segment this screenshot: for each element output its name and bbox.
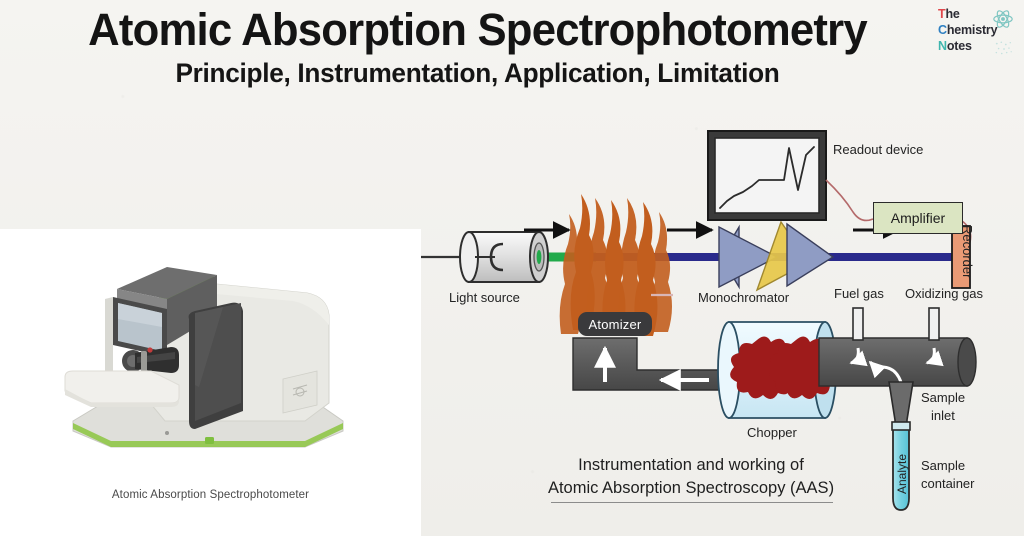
atom-icon [992, 8, 1014, 30]
page-title: Atomic Absorption Spectrophotometry [14, 4, 940, 56]
aas-schematic-diagram: Light source Atomizer Monochromator Read… [421, 90, 1024, 536]
instrument-photo-caption: Atomic Absorption Spectrophotometer [0, 489, 421, 501]
label-amplifier: Amplifier [873, 202, 963, 234]
diagram-caption-line1: Instrumentation and working of [541, 454, 841, 477]
label-recorder: Recorder [960, 225, 975, 278]
instrument-photo-panel: Atomic Absorption Spectrophotometer [0, 229, 421, 536]
label-chopper: Chopper [747, 425, 797, 440]
monochromator-optics [719, 222, 833, 290]
diagram-caption-underline [551, 502, 833, 503]
label-sample-inlet-line1: Sample [921, 390, 965, 405]
label-sample-container-line2: container [921, 476, 974, 491]
page-subtitle: Principle, Instrumentation, Application,… [14, 58, 940, 89]
label-readout-device: Readout device [833, 142, 923, 157]
gas-mixing-chamber [819, 308, 976, 390]
page-header: Atomic Absorption Spectrophotometry Prin… [0, 0, 1024, 100]
aas-instrument-illustration [55, 253, 365, 463]
label-oxidizing-gas: Oxidizing gas [905, 286, 983, 301]
logo-text-hemistry: hemistry [947, 23, 998, 37]
label-monochromator: Monochromator [698, 290, 789, 305]
fuel-gas-tube [853, 308, 863, 340]
oxidizing-gas-tube [929, 308, 939, 340]
label-fuel-gas: Fuel gas [834, 286, 884, 301]
label-sample-container-line1: Sample [921, 458, 965, 473]
label-analyte: Analyte [895, 454, 909, 494]
label-sample-inlet-line2: inlet [931, 408, 955, 423]
label-light-source: Light source [449, 290, 520, 305]
diagram-caption-line2: Atomic Absorption Spectroscopy (AAS) [521, 477, 861, 500]
logo-text-he: he [945, 7, 959, 21]
wire-readout-amplifier [826, 180, 873, 220]
logo-initial-c: C [938, 23, 947, 37]
atomizer-pipework [573, 338, 721, 390]
logo-text-otes: otes [947, 39, 972, 53]
readout-device [708, 131, 826, 220]
logo-dots-decoration [993, 40, 1015, 58]
light-source-lamp [460, 232, 548, 282]
label-atomizer: Atomizer [578, 312, 652, 336]
site-logo[interactable]: The Chemistry Notes [938, 6, 1016, 62]
logo-initial-n: N [938, 39, 947, 53]
